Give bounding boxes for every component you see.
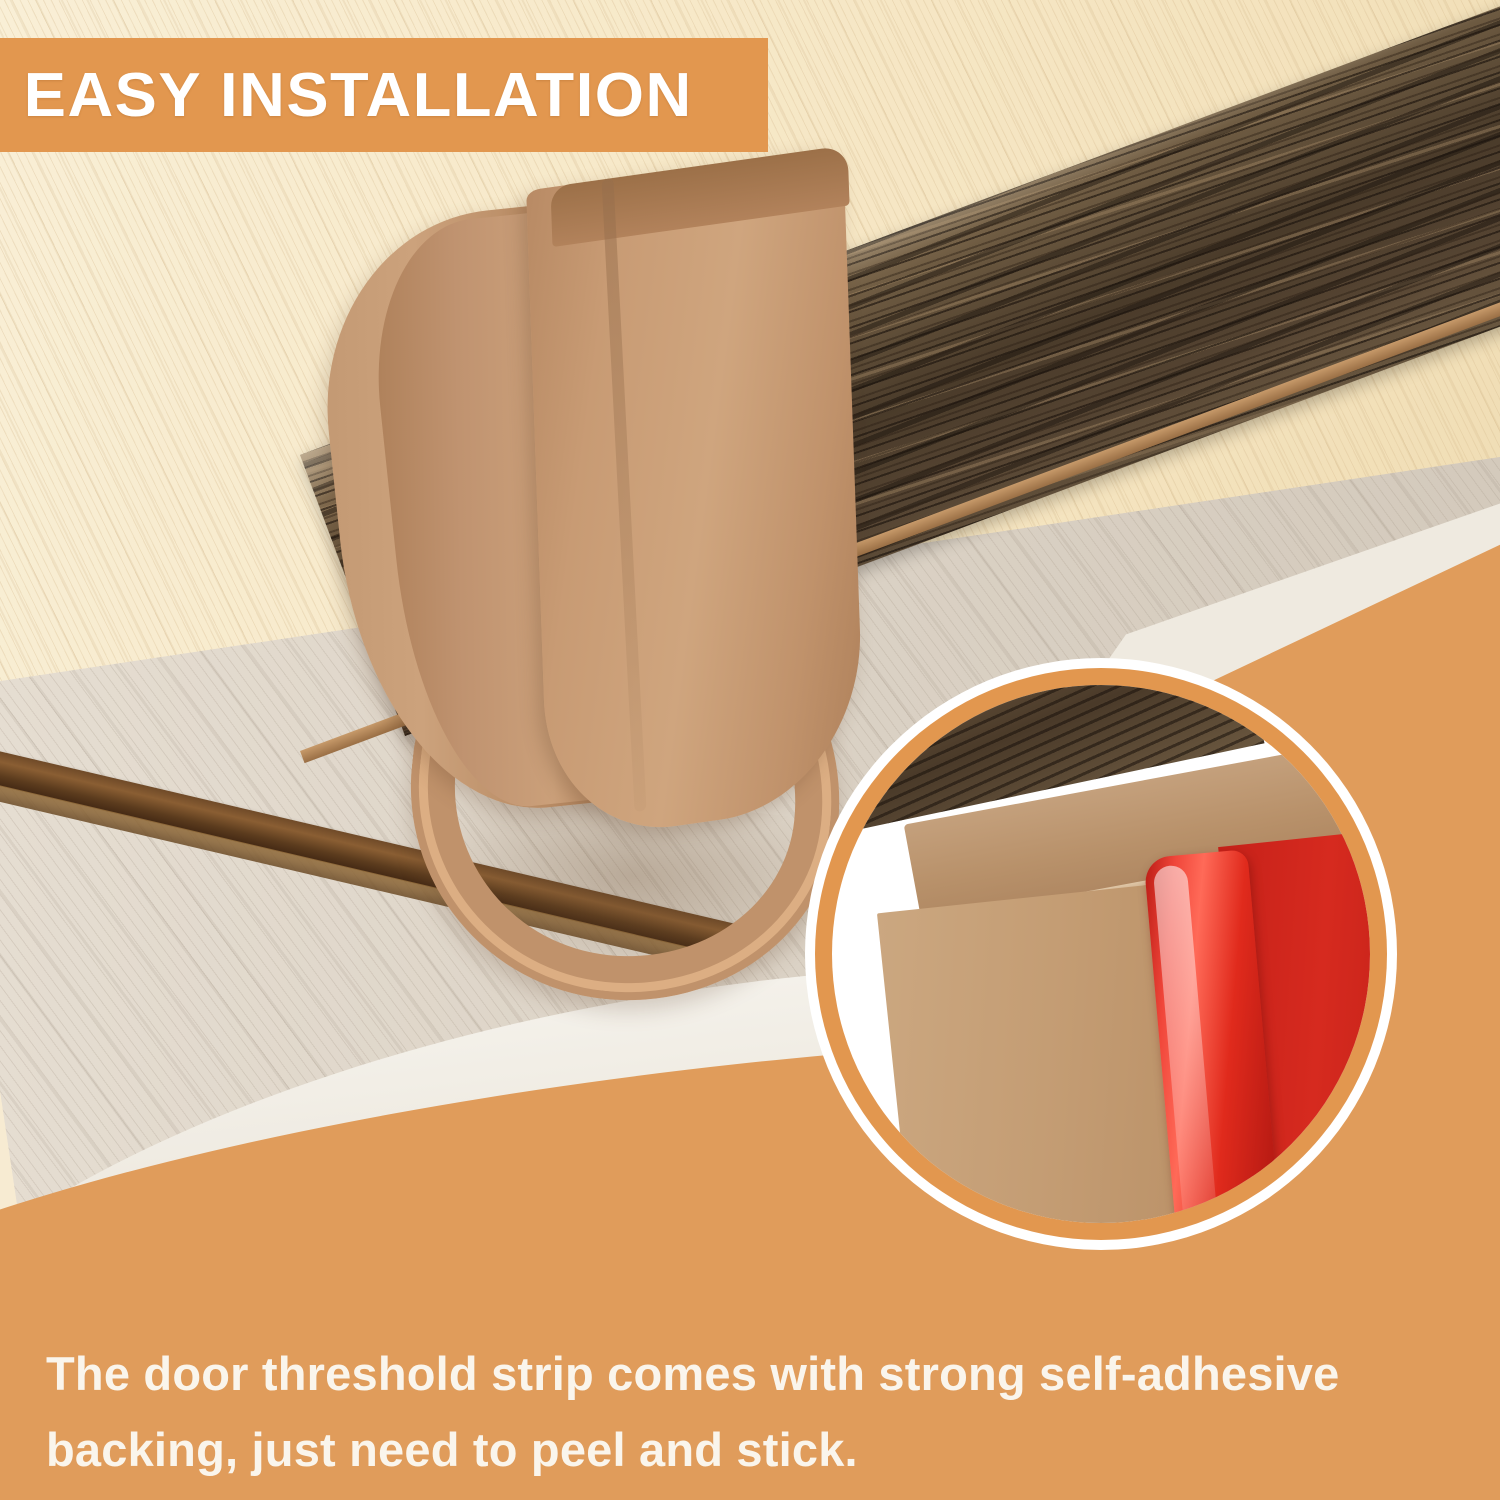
banner-title: EASY INSTALLATION [0, 60, 693, 131]
inset-content [832, 685, 1370, 1223]
caption-line-1: The door threshold strip comes with stro… [46, 1336, 1466, 1412]
caption-block: The door threshold strip comes with stro… [46, 1336, 1466, 1488]
product-marketing-image: EASY INSTALLATION The door threshold str… [0, 0, 1500, 1500]
closeup-inset [815, 668, 1387, 1240]
header-banner: EASY INSTALLATION [0, 38, 768, 152]
photo-scene [0, 0, 1500, 1500]
caption-line-2: backing, just need to peel and stick. [46, 1412, 1466, 1488]
